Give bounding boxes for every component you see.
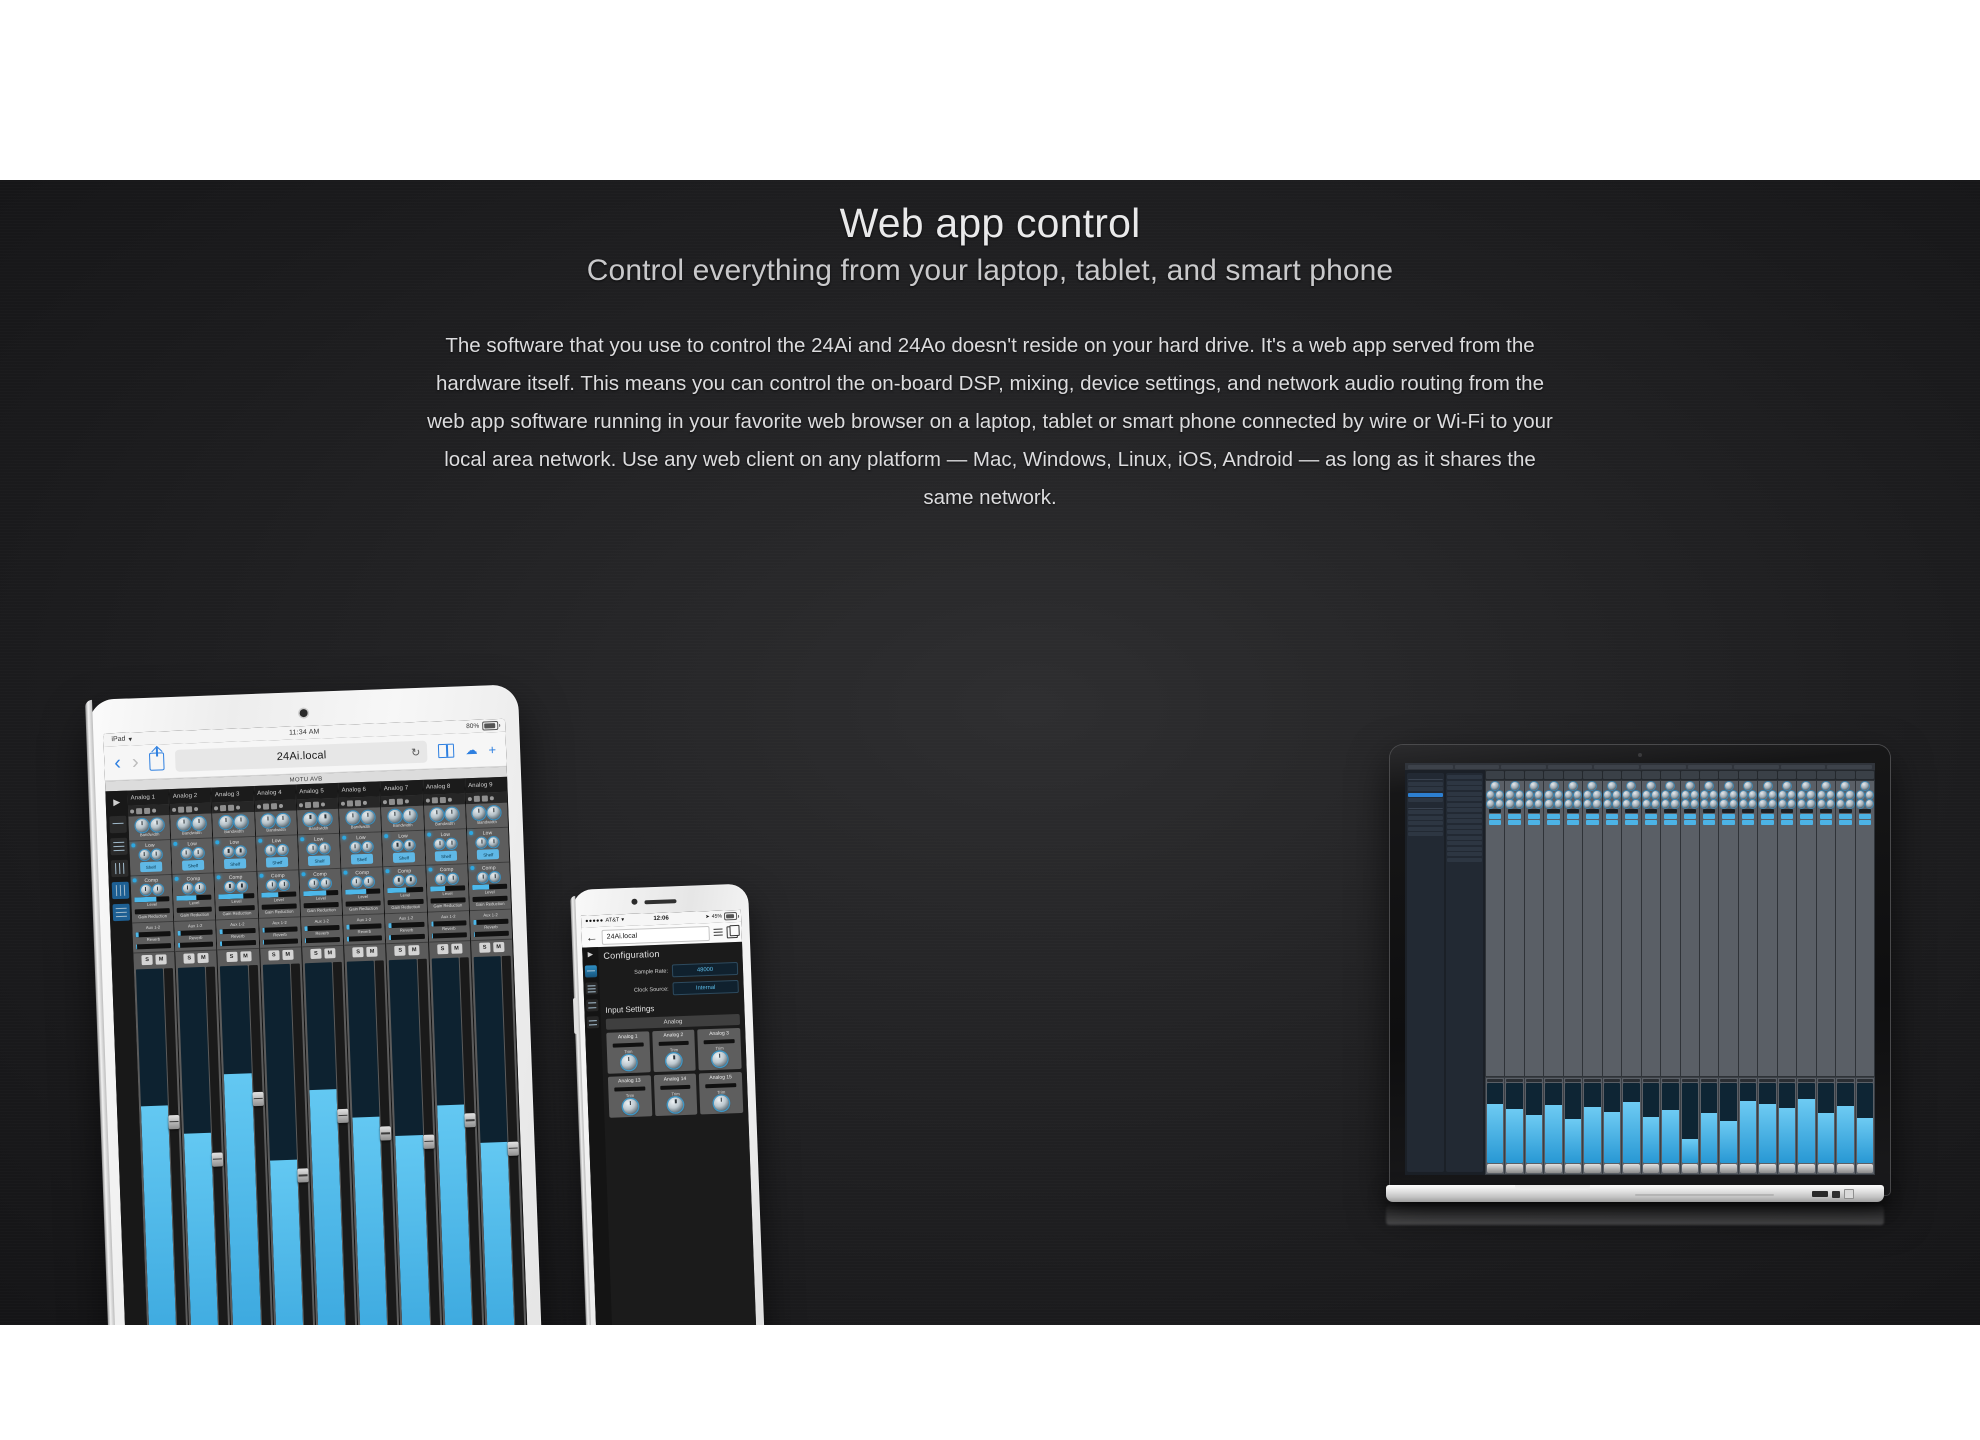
eq-knob[interactable]: [1720, 791, 1727, 799]
comp-knob[interactable]: [1818, 800, 1825, 808]
comp-ratio-knob[interactable]: [195, 883, 205, 893]
eq-freq-knob[interactable]: [362, 842, 372, 852]
fader-strip[interactable]: [1564, 1078, 1582, 1174]
mixer-strip[interactable]: [1836, 781, 1854, 1076]
browser-tab[interactable]: [1781, 765, 1826, 769]
mixer-strip[interactable]: [1739, 781, 1757, 1076]
trim-knob[interactable]: [667, 1053, 683, 1069]
fader-cap[interactable]: [1506, 1164, 1522, 1173]
fader-strip[interactable]: [1544, 1078, 1562, 1174]
eq-low-section[interactable]: Low Shelf: [382, 831, 424, 867]
eq-low-section[interactable]: Low Shelf: [256, 835, 298, 871]
comp-knob[interactable]: [1779, 800, 1786, 808]
eq-knob[interactable]: [1779, 791, 1786, 799]
reverb-send-slider[interactable]: [474, 931, 509, 937]
browser-tab[interactable]: [1641, 765, 1686, 769]
eq-knob[interactable]: [1652, 791, 1659, 799]
comp-section[interactable]: Comp Level Gain Reduction: [341, 867, 384, 915]
strip-button[interactable]: [1800, 820, 1812, 825]
trim-knob[interactable]: [621, 1055, 637, 1071]
strip-button[interactable]: [1820, 814, 1832, 819]
eq-knob[interactable]: [1535, 791, 1542, 799]
eq-gain-knob[interactable]: [350, 842, 360, 852]
mixer-strip[interactable]: [1856, 781, 1874, 1076]
eq-gain-knob[interactable]: [181, 848, 191, 858]
analog-input-cell[interactable]: Analog 15 Trim: [699, 1072, 743, 1115]
fader-strip[interactable]: [1681, 1078, 1699, 1174]
mixer-strip[interactable]: [1583, 781, 1601, 1076]
strip-button[interactable]: [1761, 814, 1773, 819]
channel-header[interactable]: [1778, 771, 1796, 779]
fader-cap[interactable]: [1720, 1164, 1736, 1173]
eq-knob[interactable]: [1545, 791, 1552, 799]
eq-knob[interactable]: [1788, 791, 1795, 799]
freq-knob[interactable]: [445, 808, 458, 821]
comp-section[interactable]: Comp Level Gain Reduction: [426, 864, 469, 912]
strip-button[interactable]: [1859, 814, 1871, 819]
eq-knob[interactable]: [1608, 782, 1616, 790]
mute-button[interactable]: M: [493, 942, 504, 952]
channel-header[interactable]: [1817, 771, 1835, 779]
eq-low-section[interactable]: Low Shelf: [425, 829, 467, 865]
eq-knob[interactable]: [1705, 782, 1713, 790]
bandwidth-section[interactable]: Bandwidth: [466, 803, 508, 829]
strip-button[interactable]: [1742, 814, 1754, 819]
eq-gain-knob[interactable]: [392, 841, 402, 851]
strip-button[interactable]: [1703, 814, 1715, 819]
strip-button[interactable]: [1839, 814, 1851, 819]
aux-send-section[interactable]: Aux 1-2 Reverb: [385, 913, 427, 944]
strip-button[interactable]: [1606, 820, 1618, 825]
eq-knob[interactable]: [1604, 791, 1611, 799]
mixer-strip[interactable]: [1681, 781, 1699, 1076]
solo-button[interactable]: S: [268, 950, 279, 960]
mute-button[interactable]: M: [451, 943, 462, 953]
back-button[interactable]: ‹: [114, 753, 121, 773]
comp-knob[interactable]: [1846, 800, 1853, 808]
eq-knob[interactable]: [1627, 782, 1635, 790]
eq-knob[interactable]: [1530, 782, 1538, 790]
comp-knob[interactable]: [1827, 800, 1834, 808]
eq-knob[interactable]: [1837, 791, 1844, 799]
sidebar-item[interactable]: [1447, 808, 1482, 812]
eq-gain-knob[interactable]: [308, 844, 318, 854]
sidebar-item[interactable]: [1447, 819, 1482, 823]
eq-low-section[interactable]: Low Shelf: [171, 839, 213, 875]
shelf-button[interactable]: Shelf: [393, 852, 415, 863]
channel-header[interactable]: [1797, 771, 1815, 779]
strip-button[interactable]: [1528, 820, 1540, 825]
comp-threshold-knob[interactable]: [478, 872, 488, 882]
comp-section[interactable]: Comp Level Gain Reduction: [384, 866, 427, 914]
analog-input-cell[interactable]: Analog 1 Trim: [606, 1031, 650, 1074]
comp-threshold-knob[interactable]: [267, 880, 277, 890]
aux-send-section[interactable]: Aux 1-2 Reverb: [217, 919, 259, 950]
channel-header[interactable]: [1525, 771, 1543, 779]
eq-knob[interactable]: [1516, 791, 1523, 799]
eq-knob[interactable]: [1671, 791, 1678, 799]
eq-knob[interactable]: [1818, 791, 1825, 799]
bookmarks-icon[interactable]: [438, 744, 455, 759]
eq-knob[interactable]: [1511, 782, 1519, 790]
freq-knob[interactable]: [361, 811, 374, 824]
sidebar-item[interactable]: [1408, 787, 1443, 791]
comp-knob[interactable]: [1740, 800, 1747, 808]
eq-knob[interactable]: [1550, 782, 1558, 790]
eq-freq-knob[interactable]: [278, 845, 288, 855]
comp-knob[interactable]: [1730, 800, 1737, 808]
trim-knob[interactable]: [712, 1051, 728, 1067]
channel-header[interactable]: [1564, 771, 1582, 779]
routing-grid-icon[interactable]: [585, 982, 597, 994]
fader-strip[interactable]: [1817, 1078, 1835, 1174]
comp-knob[interactable]: [1788, 800, 1795, 808]
eq-knob[interactable]: [1491, 782, 1499, 790]
fader-cap[interactable]: [1682, 1164, 1698, 1173]
strip-button[interactable]: [1684, 820, 1696, 825]
eq-knob[interactable]: [1632, 791, 1639, 799]
channel-header[interactable]: [1486, 771, 1504, 779]
comp-ratio-knob[interactable]: [152, 884, 162, 894]
eq-enable-led[interactable]: [427, 833, 431, 837]
strip-button[interactable]: [1742, 820, 1754, 825]
fader-cap[interactable]: [1662, 1164, 1678, 1173]
fader-strip[interactable]: [1505, 1078, 1523, 1174]
strip-button[interactable]: [1781, 820, 1793, 825]
sidebar-item[interactable]: [1447, 852, 1482, 856]
comp-enable-led[interactable]: [470, 866, 474, 870]
comp-knob[interactable]: [1643, 800, 1650, 808]
strip-button[interactable]: [1586, 814, 1598, 819]
comp-knob[interactable]: [1662, 800, 1669, 808]
bandwidth-section[interactable]: Bandwidth: [170, 814, 212, 840]
comp-knob[interactable]: [1759, 800, 1766, 808]
gain-knob[interactable]: [430, 808, 443, 821]
strip-button[interactable]: [1703, 820, 1715, 825]
trim-knob[interactable]: [668, 1097, 684, 1113]
sidebar-item[interactable]: [1447, 814, 1482, 818]
channel-header[interactable]: [1544, 771, 1562, 779]
mixer-strip[interactable]: [1700, 781, 1718, 1076]
shelf-button[interactable]: Shelf: [224, 858, 246, 869]
browser-tab[interactable]: [1455, 765, 1500, 769]
browser-tab[interactable]: [1827, 765, 1872, 769]
mute-button[interactable]: M: [282, 950, 293, 960]
sidebar-item[interactable]: [1447, 803, 1482, 807]
strip-button[interactable]: [1489, 814, 1501, 819]
eq-knob[interactable]: [1749, 791, 1756, 799]
fader-cap[interactable]: [1759, 1164, 1775, 1173]
eq-knob[interactable]: [1593, 791, 1600, 799]
freq-knob[interactable]: [150, 818, 163, 831]
freq-knob[interactable]: [277, 814, 290, 827]
comp-knob[interactable]: [1545, 800, 1552, 808]
fader-strip[interactable]: [1661, 1078, 1679, 1174]
browser-tab[interactable]: [1594, 765, 1639, 769]
gain-knob[interactable]: [262, 814, 275, 827]
fader-cap[interactable]: [1798, 1164, 1814, 1173]
sidebar-item[interactable]: [1408, 816, 1443, 820]
eq-knob[interactable]: [1643, 791, 1650, 799]
comp-knob[interactable]: [1496, 800, 1503, 808]
sidebar-item-selected[interactable]: [1408, 793, 1443, 797]
expand-arrow-icon[interactable]: ▶: [113, 794, 121, 811]
comp-threshold-knob[interactable]: [140, 885, 150, 895]
freq-knob[interactable]: [192, 817, 205, 830]
analog-input-cell[interactable]: Analog 3 Trim: [698, 1028, 742, 1071]
fader-strip[interactable]: [1739, 1078, 1757, 1174]
fader-cap[interactable]: [1818, 1164, 1834, 1173]
mixer-strip[interactable]: [1661, 781, 1679, 1076]
address-bar[interactable]: 24Ai.local: [601, 925, 709, 944]
browser-tab[interactable]: [1548, 765, 1593, 769]
fader-strip[interactable]: [1797, 1078, 1815, 1174]
strip-button[interactable]: [1761, 820, 1773, 825]
channel-header[interactable]: [1681, 771, 1699, 779]
expand-arrow-icon[interactable]: ▶: [588, 950, 594, 960]
analog-input-cell[interactable]: Analog 14 Trim: [653, 1074, 697, 1117]
mixer-strip[interactable]: [1758, 781, 1776, 1076]
comp-knob[interactable]: [1749, 800, 1756, 808]
channel-header[interactable]: [1856, 771, 1874, 779]
comp-ratio-knob[interactable]: [363, 877, 373, 887]
sidebar-item[interactable]: [1408, 782, 1443, 786]
fader-strip[interactable]: [1856, 1078, 1874, 1174]
comp-knob[interactable]: [1720, 800, 1727, 808]
mixer-strip[interactable]: [1642, 781, 1660, 1076]
sidebar-item[interactable]: [1408, 810, 1443, 814]
sidebar-item[interactable]: [1408, 832, 1443, 836]
eq-knob[interactable]: [1662, 791, 1669, 799]
mute-button[interactable]: M: [198, 953, 209, 963]
freq-knob[interactable]: [319, 812, 332, 825]
strip-button[interactable]: [1664, 814, 1676, 819]
strip-button[interactable]: [1567, 814, 1579, 819]
comp-knob[interactable]: [1584, 800, 1591, 808]
fader-strip[interactable]: [1603, 1078, 1621, 1174]
fader-cap[interactable]: [1837, 1164, 1853, 1173]
mixer-strip[interactable]: [1544, 781, 1562, 1076]
browser-tab[interactable]: [1688, 765, 1733, 769]
strip-button[interactable]: [1625, 814, 1637, 819]
comp-enable-led[interactable]: [428, 868, 432, 872]
channel-header[interactable]: [1642, 771, 1660, 779]
fader-cap[interactable]: [1643, 1164, 1659, 1173]
eq-freq-knob[interactable]: [489, 837, 499, 847]
strip-button[interactable]: [1781, 814, 1793, 819]
comp-section[interactable]: Comp Level Gain Reduction: [468, 863, 511, 911]
fader-strip[interactable]: [1642, 1078, 1660, 1174]
comp-knob[interactable]: [1769, 800, 1776, 808]
mixer-strip[interactable]: [1603, 781, 1621, 1076]
comp-knob[interactable]: [1574, 800, 1581, 808]
eq-enable-led[interactable]: [258, 839, 262, 843]
eq-knob[interactable]: [1565, 791, 1572, 799]
aux-send-section[interactable]: Aux 1-2 Reverb: [428, 911, 470, 942]
reverb-send-slider[interactable]: [347, 935, 382, 941]
shelf-button[interactable]: Shelf: [266, 857, 288, 868]
aux-send-section[interactable]: Aux 1-2 Reverb: [174, 920, 216, 951]
eq-knob[interactable]: [1802, 782, 1810, 790]
solo-button[interactable]: S: [352, 947, 363, 957]
comp-threshold-knob[interactable]: [351, 877, 361, 887]
eq-low-section[interactable]: Low Shelf: [129, 840, 171, 876]
sidebar-item[interactable]: [1447, 830, 1482, 834]
comp-section[interactable]: Comp Level Gain Reduction: [299, 869, 342, 917]
browser-tab[interactable]: [1408, 765, 1453, 769]
eq-knob[interactable]: [1691, 791, 1698, 799]
fader-strip[interactable]: [1700, 1078, 1718, 1174]
strip-button[interactable]: [1528, 814, 1540, 819]
tabs-icon[interactable]: [726, 926, 737, 938]
gain-knob[interactable]: [219, 816, 232, 829]
mute-button[interactable]: M: [324, 948, 335, 958]
eq-knob[interactable]: [1686, 782, 1694, 790]
eq-low-section[interactable]: Low Shelf: [214, 837, 256, 873]
fader-cap[interactable]: [1740, 1164, 1756, 1173]
freq-knob[interactable]: [488, 806, 501, 819]
mixer-icon[interactable]: [587, 1016, 599, 1028]
eq-knob[interactable]: [1783, 782, 1791, 790]
eq-knob[interactable]: [1701, 791, 1708, 799]
strip-button[interactable]: [1800, 814, 1812, 819]
sidebar-item[interactable]: [1408, 798, 1443, 802]
eq-knob[interactable]: [1584, 791, 1591, 799]
channel-header[interactable]: [1603, 771, 1621, 779]
sidebar-item[interactable]: [1447, 775, 1482, 779]
solo-button[interactable]: S: [141, 955, 152, 965]
bandwidth-section[interactable]: Bandwidth: [424, 804, 466, 830]
eq-knob[interactable]: [1759, 791, 1766, 799]
mixer-strip[interactable]: [1505, 781, 1523, 1076]
eq-freq-knob[interactable]: [446, 839, 456, 849]
back-button[interactable]: ←: [586, 931, 598, 943]
sidebar-item[interactable]: [1447, 792, 1482, 796]
shelf-button[interactable]: Shelf: [435, 851, 457, 862]
comp-knob[interactable]: [1866, 800, 1873, 808]
aux-send-section[interactable]: Aux 1-2 Reverb: [343, 914, 385, 945]
sidebar-item[interactable]: [1447, 847, 1482, 851]
forward-button[interactable]: ›: [132, 752, 139, 772]
strip-button[interactable]: [1547, 814, 1559, 819]
eq-knob[interactable]: [1807, 791, 1814, 799]
bandwidth-section[interactable]: Bandwidth: [213, 812, 255, 838]
reverb-send-slider[interactable]: [136, 943, 171, 949]
comp-knob[interactable]: [1691, 800, 1698, 808]
browser-tab[interactable]: [1501, 765, 1546, 769]
mixer-strip[interactable]: [1817, 781, 1835, 1076]
comp-ratio-knob[interactable]: [237, 881, 247, 891]
fader-strip[interactable]: [1622, 1078, 1640, 1174]
shelf-button[interactable]: Shelf: [308, 855, 330, 866]
mixer-strip[interactable]: [1525, 781, 1543, 1076]
solo-button[interactable]: S: [226, 952, 237, 962]
fader-strip[interactable]: [1836, 1078, 1854, 1174]
strip-button[interactable]: [1606, 814, 1618, 819]
strip-button[interactable]: [1722, 820, 1734, 825]
comp-threshold-knob[interactable]: [309, 879, 319, 889]
eq-knob[interactable]: [1526, 791, 1533, 799]
comp-threshold-knob[interactable]: [394, 876, 404, 886]
bandwidth-section[interactable]: Bandwidth: [128, 815, 170, 841]
comp-enable-led[interactable]: [301, 872, 305, 876]
fader-cap[interactable]: [1487, 1164, 1503, 1173]
freq-knob[interactable]: [234, 815, 247, 828]
comp-knob[interactable]: [1613, 800, 1620, 808]
reverb-send-slider[interactable]: [389, 934, 424, 940]
eq-enable-led[interactable]: [469, 831, 473, 835]
channel-header[interactable]: [1661, 771, 1679, 779]
eq-knob[interactable]: [1822, 782, 1830, 790]
comp-knob[interactable]: [1593, 800, 1600, 808]
channel-header[interactable]: [1758, 771, 1776, 779]
channels-icon[interactable]: [110, 860, 128, 878]
eq-freq-knob[interactable]: [404, 840, 414, 850]
strip-button[interactable]: [1547, 820, 1559, 825]
eq-knob[interactable]: [1555, 791, 1562, 799]
comp-enable-led[interactable]: [259, 874, 263, 878]
channel-header[interactable]: [1836, 771, 1854, 779]
eq-knob[interactable]: [1740, 791, 1747, 799]
channel-header[interactable]: [1700, 771, 1718, 779]
strip-button[interactable]: [1508, 814, 1520, 819]
browser-tab[interactable]: [1734, 765, 1779, 769]
device-icon[interactable]: [109, 816, 127, 834]
comp-knob[interactable]: [1857, 800, 1864, 808]
mute-button[interactable]: M: [240, 951, 251, 961]
mixer-strip[interactable]: [1719, 781, 1737, 1076]
comp-threshold-knob[interactable]: [225, 882, 235, 892]
shelf-button[interactable]: Shelf: [351, 854, 373, 865]
comp-threshold-knob[interactable]: [436, 874, 446, 884]
device-icon[interactable]: [585, 965, 597, 977]
solo-button[interactable]: S: [184, 953, 195, 963]
eq-freq-knob[interactable]: [320, 843, 330, 853]
comp-knob[interactable]: [1604, 800, 1611, 808]
eq-knob[interactable]: [1798, 791, 1805, 799]
comp-knob[interactable]: [1807, 800, 1814, 808]
mute-button[interactable]: M: [155, 954, 166, 964]
eq-knob[interactable]: [1623, 791, 1630, 799]
eq-knob[interactable]: [1569, 782, 1577, 790]
channel-header[interactable]: [1583, 771, 1601, 779]
channels-icon[interactable]: [586, 999, 598, 1011]
analog-input-cell[interactable]: Analog 13 Trim: [608, 1075, 652, 1118]
eq-knob[interactable]: [1744, 782, 1752, 790]
share-icon[interactable]: [149, 752, 165, 771]
cloud-tabs-icon[interactable]: ☁: [465, 744, 477, 756]
eq-knob[interactable]: [1827, 791, 1834, 799]
gain-knob[interactable]: [346, 811, 359, 824]
comp-knob[interactable]: [1565, 800, 1572, 808]
comp-knob[interactable]: [1837, 800, 1844, 808]
reverb-send-slider[interactable]: [263, 938, 298, 944]
comp-knob[interactable]: [1798, 800, 1805, 808]
sidebar-item[interactable]: [1447, 841, 1482, 845]
comp-threshold-knob[interactable]: [183, 883, 193, 893]
strip-button[interactable]: [1722, 814, 1734, 819]
fader-strip[interactable]: [1719, 1078, 1737, 1174]
comp-knob[interactable]: [1535, 800, 1542, 808]
mixer-strip[interactable]: [1564, 781, 1582, 1076]
eq-gain-knob[interactable]: [477, 837, 487, 847]
reverb-send-slider[interactable]: [220, 940, 255, 946]
fader-cap[interactable]: [1623, 1164, 1639, 1173]
fader-cap[interactable]: [1604, 1164, 1620, 1173]
eq-gain-knob[interactable]: [266, 845, 276, 855]
fader-cap[interactable]: [1779, 1164, 1795, 1173]
comp-section[interactable]: Comp Level Gain Reduction: [130, 875, 173, 923]
